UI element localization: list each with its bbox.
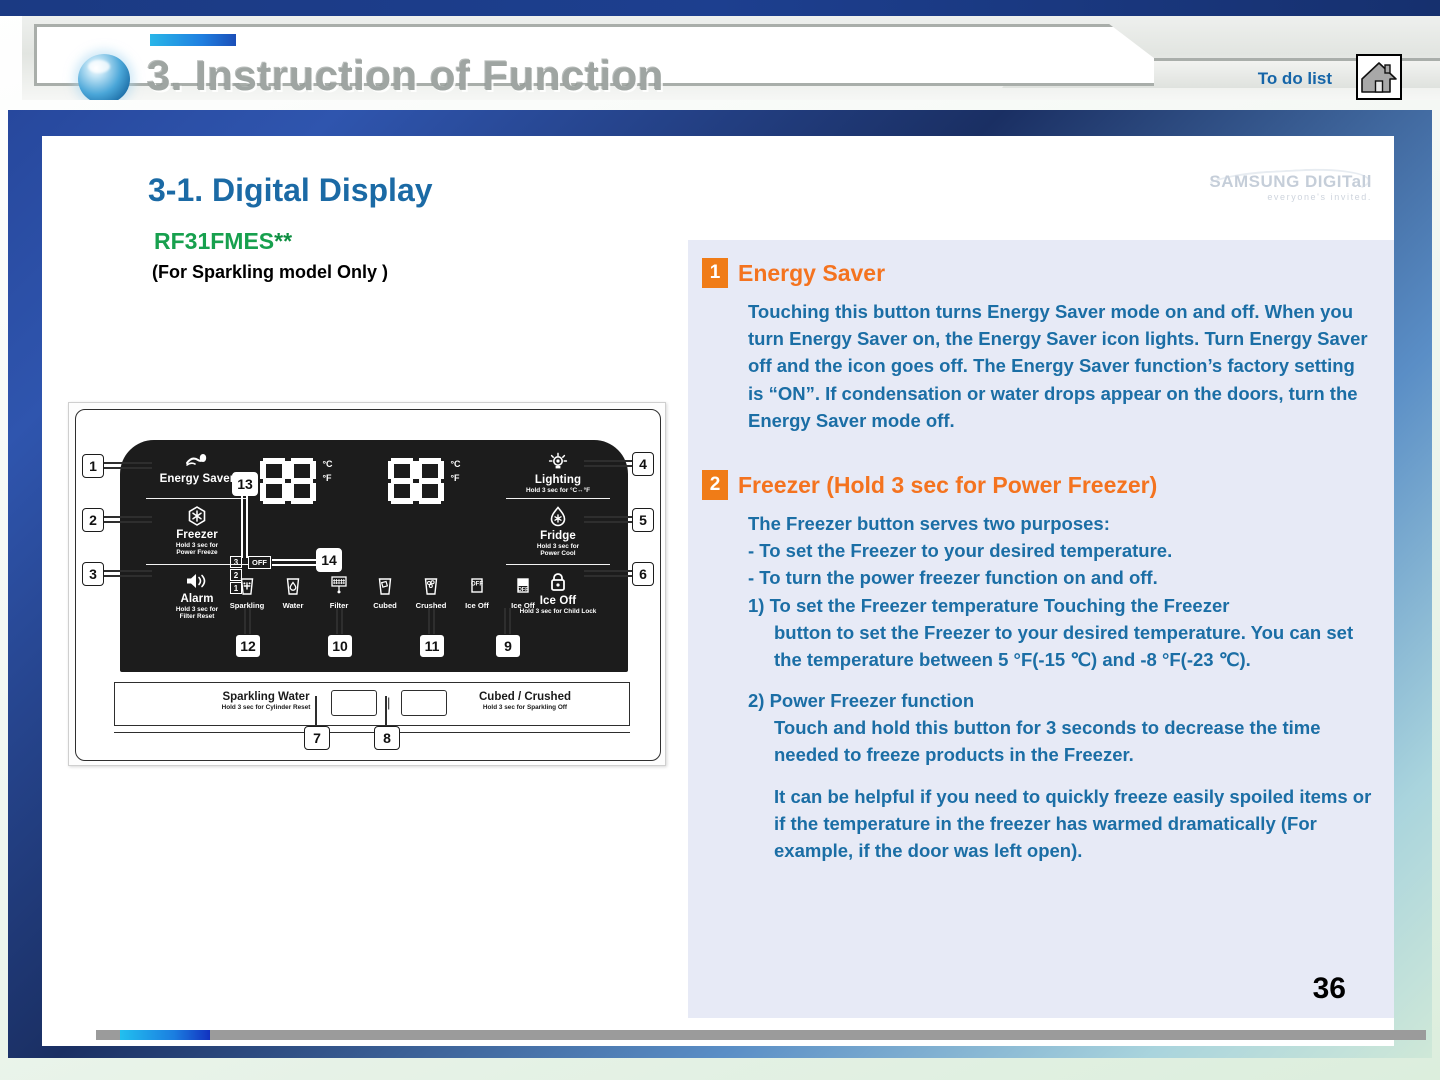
callout-12: 12 — [235, 634, 261, 658]
sparkling-glass-icon — [224, 576, 270, 599]
seg-digit — [416, 458, 444, 504]
panel-label-text: Lighting — [498, 474, 618, 486]
ice-off-icon: OFF — [454, 576, 500, 599]
mini-icon-water: Water — [270, 576, 316, 610]
panel-label-lighting: Lighting Hold 3 sec for °C↔°F — [498, 452, 618, 494]
callout-7-leader — [315, 696, 317, 730]
callout-2: 2 — [82, 508, 104, 532]
freezer-temp-display: °C °F — [260, 458, 333, 509]
callout-10-leader — [336, 608, 338, 636]
mini-icon-filter: Filter — [316, 574, 362, 610]
callout-5-leader — [584, 516, 632, 518]
panel-label-sub: Hold 3 sec for °C↔°F — [498, 487, 618, 494]
callout-7: 7 — [304, 726, 330, 750]
callout-6: 6 — [632, 562, 654, 586]
instruction-number: 1 — [702, 258, 728, 288]
unit-celsius: °C — [450, 459, 460, 469]
callout-9-leader — [509, 608, 511, 636]
instruction-paragraph: button to set the Freezer to your desire… — [748, 619, 1372, 673]
instruction-paragraph: It can be helpful if you need to quickly… — [748, 783, 1372, 865]
callout-1: 1 — [82, 454, 104, 478]
ice-off-alt-icon: OFF — [500, 576, 546, 599]
callout-11: 11 — [419, 634, 445, 658]
svg-text:OFF: OFF — [471, 582, 483, 588]
panel-label-freezer: Freezer Hold 3 sec forPower Freeze — [142, 506, 252, 557]
header-accent-bar — [150, 34, 236, 46]
mini-icon-ice-off-2: OFF Ice Off — [500, 576, 546, 610]
water-glass-icon — [270, 576, 316, 599]
dispenser-bar: Sparkling Water Hold 3 sec for Cylinder … — [114, 682, 630, 726]
energy-saver-icon — [142, 454, 252, 473]
instruction-heading-row: 1 Energy Saver — [702, 258, 1372, 288]
model-wildcard: ** — [274, 228, 292, 254]
unit-labels: °C °F — [322, 458, 332, 485]
panel-label-sub: Hold 3 sec forPower Freeze — [142, 542, 252, 557]
unit-labels: °C °F — [450, 458, 460, 485]
content-frame: SAMSUNG DIGITall everyone's invited. 3-1… — [8, 110, 1432, 1058]
model-number: RF31FMES** — [154, 228, 292, 255]
callout-14: 14 — [316, 548, 342, 572]
lightbulb-icon — [498, 452, 618, 474]
callout-13-leader — [241, 496, 243, 558]
callout-13-leader — [246, 496, 248, 558]
mini-icon-label: Crushed — [408, 601, 454, 610]
sheet-bottom-shadow — [96, 1030, 1426, 1040]
callout-8: 8 — [374, 726, 400, 750]
callout-12-leader — [249, 608, 251, 636]
cubed-ice-icon — [362, 576, 408, 599]
callout-11-leader — [433, 608, 435, 636]
panel-divider-4 — [506, 564, 610, 565]
to-do-list-link[interactable]: To do list — [1258, 69, 1332, 89]
slide-page: 3. Instruction of Function To do list SA… — [0, 0, 1440, 1080]
sparkling-water-button[interactable] — [331, 690, 377, 716]
callout-10: 10 — [327, 634, 353, 658]
callout-9-leader — [504, 608, 506, 636]
instruction-paragraph: 1) To set the Freezer temperature Touchi… — [748, 592, 1372, 619]
control-panel-figure: Energy Saver Freezer Hold 3 sec forPower… — [68, 402, 666, 766]
water-drop-snowflake-icon — [498, 506, 618, 530]
cubed-crushed-button[interactable] — [401, 690, 447, 716]
label-main: Sparkling Water — [201, 691, 331, 703]
samsung-logo: SAMSUNG DIGITall everyone's invited. — [1202, 172, 1372, 210]
instruction-paragraph: Touch and hold this button for 3 seconds… — [748, 714, 1372, 768]
callout-3: 3 — [82, 562, 104, 586]
instruction-panel: 1 Energy Saver Touching this button turn… — [688, 240, 1394, 1018]
dispenser-separator: | — [387, 695, 390, 710]
instruction-paragraph: 2) Power Freezer function — [748, 687, 1372, 714]
callout-4-leader — [584, 460, 632, 462]
svg-text:OFF: OFF — [518, 587, 529, 593]
instruction-paragraph: The Freezer button serves two purposes: — [748, 510, 1372, 537]
globe-icon — [78, 54, 130, 100]
instruction-paragraph: Touching this button turns Energy Saver … — [748, 298, 1372, 434]
model-note: (For Sparkling model Only ) — [152, 262, 388, 283]
mini-icon-label: Water — [270, 601, 316, 610]
home-icon[interactable] — [1356, 54, 1402, 100]
instruction-body: Touching this button turns Energy Saver … — [702, 298, 1372, 434]
page-number: 36 — [1313, 972, 1346, 1006]
instruction-body: The Freezer button serves two purposes: … — [702, 510, 1372, 864]
instruction-block-2: 2 Freezer (Hold 3 sec for Power Freezer)… — [702, 470, 1372, 864]
callout-14-leader — [272, 559, 318, 561]
mini-icon-label: Ice Off — [454, 601, 500, 610]
mini-icon-cubed: Cubed — [362, 576, 408, 610]
instruction-heading-row: 2 Freezer (Hold 3 sec for Power Freezer) — [702, 470, 1372, 500]
panel-label-sub: Hold 3 sec forPower Cool — [498, 543, 618, 558]
callout-5: 5 — [632, 508, 654, 532]
callout-4-leader — [584, 465, 632, 467]
callout-10-leader — [341, 608, 343, 636]
instruction-paragraph: - To set the Freezer to your desired tem… — [748, 537, 1372, 564]
top-blue-strip — [0, 0, 1440, 16]
unit-fahrenheit: °F — [322, 473, 331, 483]
callout-2-leader — [104, 521, 152, 523]
callout-8-leader — [385, 696, 387, 730]
callout-14-leader — [272, 564, 318, 566]
callout-3-leader — [104, 570, 152, 572]
seg-digit — [388, 458, 416, 504]
panel-label-text: Freezer — [142, 529, 252, 541]
mini-icon-label: Filter — [316, 601, 362, 610]
page-title: 3. Instruction of Function — [147, 52, 664, 100]
model-code: RF31FMES — [154, 228, 274, 254]
callout-6-leader — [584, 570, 632, 572]
instruction-heading: Freezer (Hold 3 sec for Power Freezer) — [738, 470, 1157, 500]
callout-4: 4 — [632, 452, 654, 476]
unit-celsius: °C — [322, 459, 332, 469]
unit-fahrenheit: °F — [450, 473, 459, 483]
mini-icon-label: Ice Off — [500, 601, 546, 610]
mini-icon-sparkling: Sparkling — [224, 576, 270, 610]
callout-12-leader — [244, 608, 246, 636]
control-panel-outline: Energy Saver Freezer Hold 3 sec forPower… — [75, 409, 661, 761]
level-3: 3 — [230, 556, 242, 568]
mini-icon-label: Sparkling — [224, 601, 270, 610]
off-badge: OFF — [248, 556, 271, 569]
sheet-bottom-accent — [120, 1030, 210, 1040]
panel-label-text: Fridge — [498, 530, 618, 542]
instruction-block-1: 1 Energy Saver Touching this button turn… — [702, 258, 1372, 434]
instruction-number: 2 — [702, 470, 728, 500]
mini-icon-ice-off-1: OFF Ice Off — [454, 576, 500, 610]
control-panel-display: Energy Saver Freezer Hold 3 sec forPower… — [120, 440, 628, 672]
callout-2-leader — [104, 516, 152, 518]
snowflake-icon — [142, 506, 252, 529]
cubed-crushed-label: Cubed / Crushed Hold 3 sec for Sparkling… — [455, 691, 595, 711]
callout-9: 9 — [495, 634, 521, 658]
crushed-ice-icon — [408, 576, 454, 599]
instruction-paragraph: - To turn the power freezer function on … — [748, 564, 1372, 591]
filter-icon — [316, 574, 362, 599]
page-header: 3. Instruction of Function To do list — [22, 16, 1440, 100]
mini-icon-crushed: Crushed — [408, 576, 454, 610]
mini-icon-label: Cubed — [362, 601, 408, 610]
label-sub: Hold 3 sec for Cylinder Reset — [201, 704, 331, 711]
content-sheet: SAMSUNG DIGITall everyone's invited. 3-1… — [42, 136, 1394, 1046]
seg-digit — [260, 458, 288, 504]
sparkling-water-label: Sparkling Water Hold 3 sec for Cylinder … — [201, 691, 331, 711]
panel-divider-3 — [506, 498, 610, 499]
panel-label-fridge: Fridge Hold 3 sec forPower Cool — [498, 506, 618, 558]
callout-3-leader — [104, 575, 152, 577]
label-main: Cubed / Crushed — [455, 691, 595, 703]
callout-1-leader — [104, 462, 152, 464]
callout-11-leader — [428, 608, 430, 636]
dispenser-rule — [114, 732, 630, 733]
panel-divider-1 — [146, 498, 248, 499]
instruction-heading: Energy Saver — [738, 258, 885, 288]
callout-5-leader — [584, 521, 632, 523]
label-sub: Hold 3 sec for Sparkling Off — [455, 704, 595, 711]
callout-1-leader — [104, 467, 152, 469]
seg-digit — [288, 458, 316, 504]
callout-6-leader — [584, 575, 632, 577]
section-title: 3-1. Digital Display — [148, 172, 433, 209]
fridge-temp-display: °C °F — [388, 458, 461, 509]
callout-13: 13 — [232, 472, 258, 496]
